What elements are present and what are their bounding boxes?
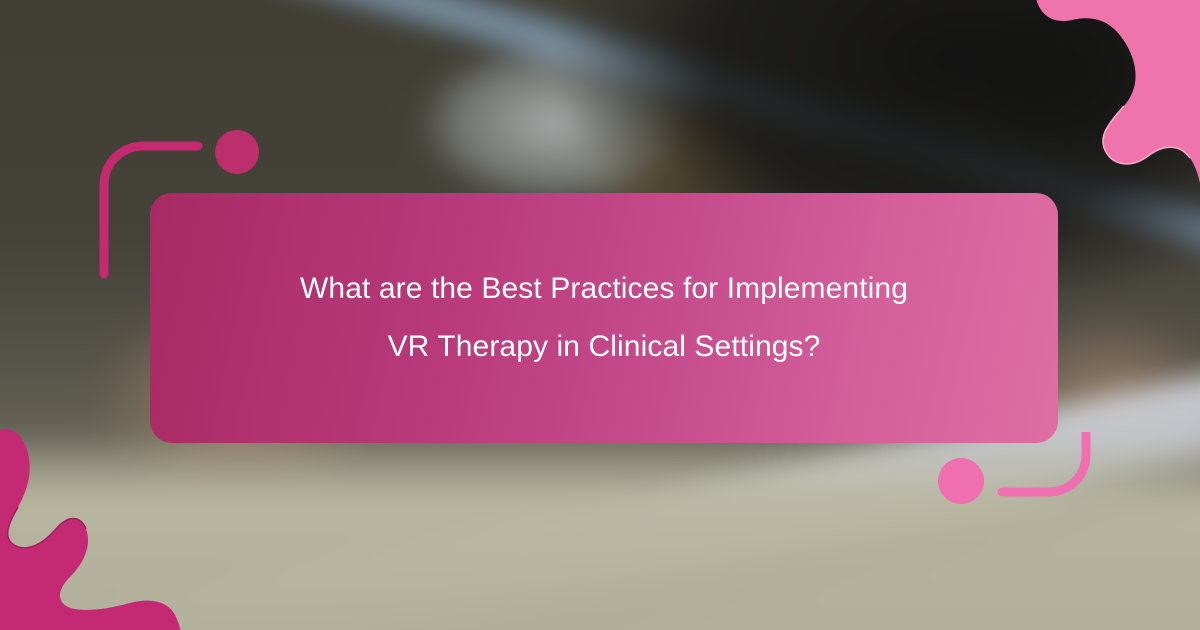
title-banner: What are the Best Practices for Implemen… (150, 193, 1058, 443)
accent-dot-top-left (215, 130, 259, 174)
accent-dot-bottom-right (938, 458, 984, 504)
page-title: What are the Best Practices for Implemen… (300, 260, 908, 375)
hero-card: What are the Best Practices for Implemen… (0, 0, 1200, 630)
